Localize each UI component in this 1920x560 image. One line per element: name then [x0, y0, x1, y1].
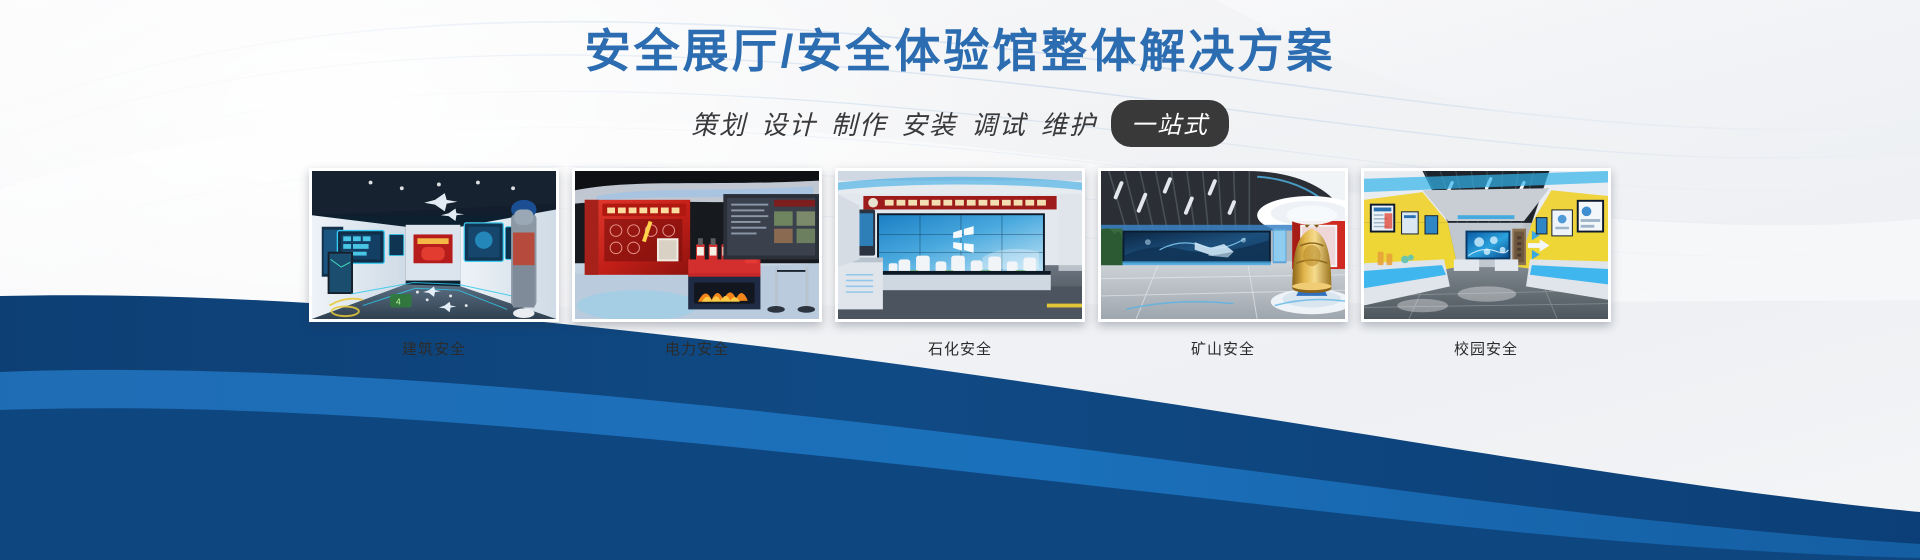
- scenario-thumbnail-petrochemical[interactable]: [835, 168, 1085, 322]
- scenario-card[interactable]: 矿山安全: [1098, 168, 1348, 359]
- scenario-thumbnail-construction[interactable]: 4: [309, 168, 559, 322]
- service-keyword-installation: 安装: [901, 110, 957, 140]
- safety-exhibition-banner: 安全展厅/安全体验馆整体解决方案 策划设计制作安装调试维护 一站式: [0, 0, 1920, 560]
- service-row: 策划设计制作安装调试维护 一站式: [0, 100, 1920, 147]
- page-title: 安全展厅/安全体验馆整体解决方案: [0, 24, 1920, 79]
- service-keywords: 策划设计制作安装调试维护: [691, 105, 1097, 142]
- scenario-card-row: 4 建筑安全: [0, 168, 1920, 359]
- service-keyword-planning: 策划: [691, 110, 747, 140]
- service-keyword-design: 设计: [761, 110, 817, 140]
- headline-row: 安全展厅/安全体验馆整体解决方案: [0, 24, 1920, 79]
- scenario-caption: 电力安全: [665, 338, 729, 359]
- scenario-thumbnail-mining[interactable]: [1098, 168, 1348, 322]
- scenario-caption: 矿山安全: [1191, 338, 1255, 359]
- scenario-caption: 石化安全: [928, 338, 992, 359]
- service-keyword-debugging: 调试: [971, 110, 1027, 140]
- service-keyword-maintenance: 维护: [1041, 110, 1097, 140]
- scenario-card[interactable]: 4 建筑安全: [309, 168, 559, 359]
- scenario-card[interactable]: 电力安全: [572, 168, 822, 359]
- scenario-caption: 建筑安全: [402, 338, 466, 359]
- scenario-thumbnail-power[interactable]: [572, 168, 822, 322]
- scenario-thumbnail-campus[interactable]: [1361, 168, 1611, 322]
- scenario-card[interactable]: 石化安全: [835, 168, 1085, 359]
- scenario-caption: 校园安全: [1454, 338, 1518, 359]
- service-keyword-production: 制作: [831, 110, 887, 140]
- one-stop-badge: 一站式: [1111, 100, 1229, 147]
- scenario-card[interactable]: 校园安全: [1361, 168, 1611, 359]
- svg-text:4: 4: [396, 297, 401, 307]
